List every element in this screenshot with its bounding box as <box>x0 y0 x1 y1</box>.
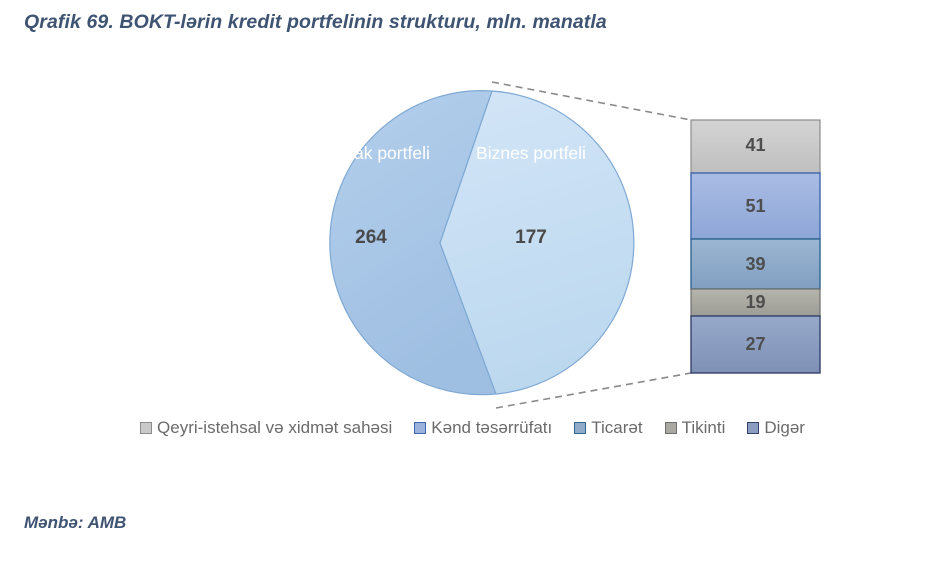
bar-segment-kend-teserrufati[interactable] <box>691 173 820 239</box>
legend-swatch-icon <box>665 422 677 434</box>
legend-swatch-icon <box>574 422 586 434</box>
legend-item-kend-teserrufati[interactable]: Kənd təsərrüfatı <box>414 418 552 438</box>
legend-item-label: Kənd təsərrüfatı <box>431 418 552 438</box>
legend-item-label: Digər <box>764 418 805 438</box>
bar-segment-diger[interactable] <box>691 316 820 373</box>
legend-item-label: Ticarət <box>591 418 642 438</box>
legend-item-diger[interactable]: Digər <box>747 418 805 438</box>
bar-segment-qeyri-istehsal-ve-xidmet-sahesi[interactable] <box>691 120 820 173</box>
legend-swatch-icon <box>140 422 152 434</box>
legend-swatch-icon <box>414 422 426 434</box>
source-note: Mənbə: AMB <box>24 513 126 533</box>
chart-legend: Qeyri-istehsal və xidmət sahəsi Kənd təs… <box>0 418 945 438</box>
page-title: Qrafik 69. BOKT-lərin kredit portfelinin… <box>24 11 607 34</box>
legend-item-label: Qeyri-istehsal və xidmət sahəsi <box>157 418 392 438</box>
chart-plot-area: İstehlak portfeli 264 Biznes portfeli 17… <box>0 55 945 415</box>
bar-segment-ticaret[interactable] <box>691 239 820 289</box>
bar-segment-tikinti[interactable] <box>691 289 820 316</box>
legend-item-qeyri-istehsal-ve-xidmet-sahesi[interactable]: Qeyri-istehsal və xidmət sahəsi <box>140 418 392 438</box>
legend-item-label: Tikinti <box>682 418 726 438</box>
legend-item-ticaret[interactable]: Ticarət <box>574 418 642 438</box>
chart-graphic <box>0 55 945 415</box>
legend-item-tikinti[interactable]: Tikinti <box>665 418 726 438</box>
legend-swatch-icon <box>747 422 759 434</box>
